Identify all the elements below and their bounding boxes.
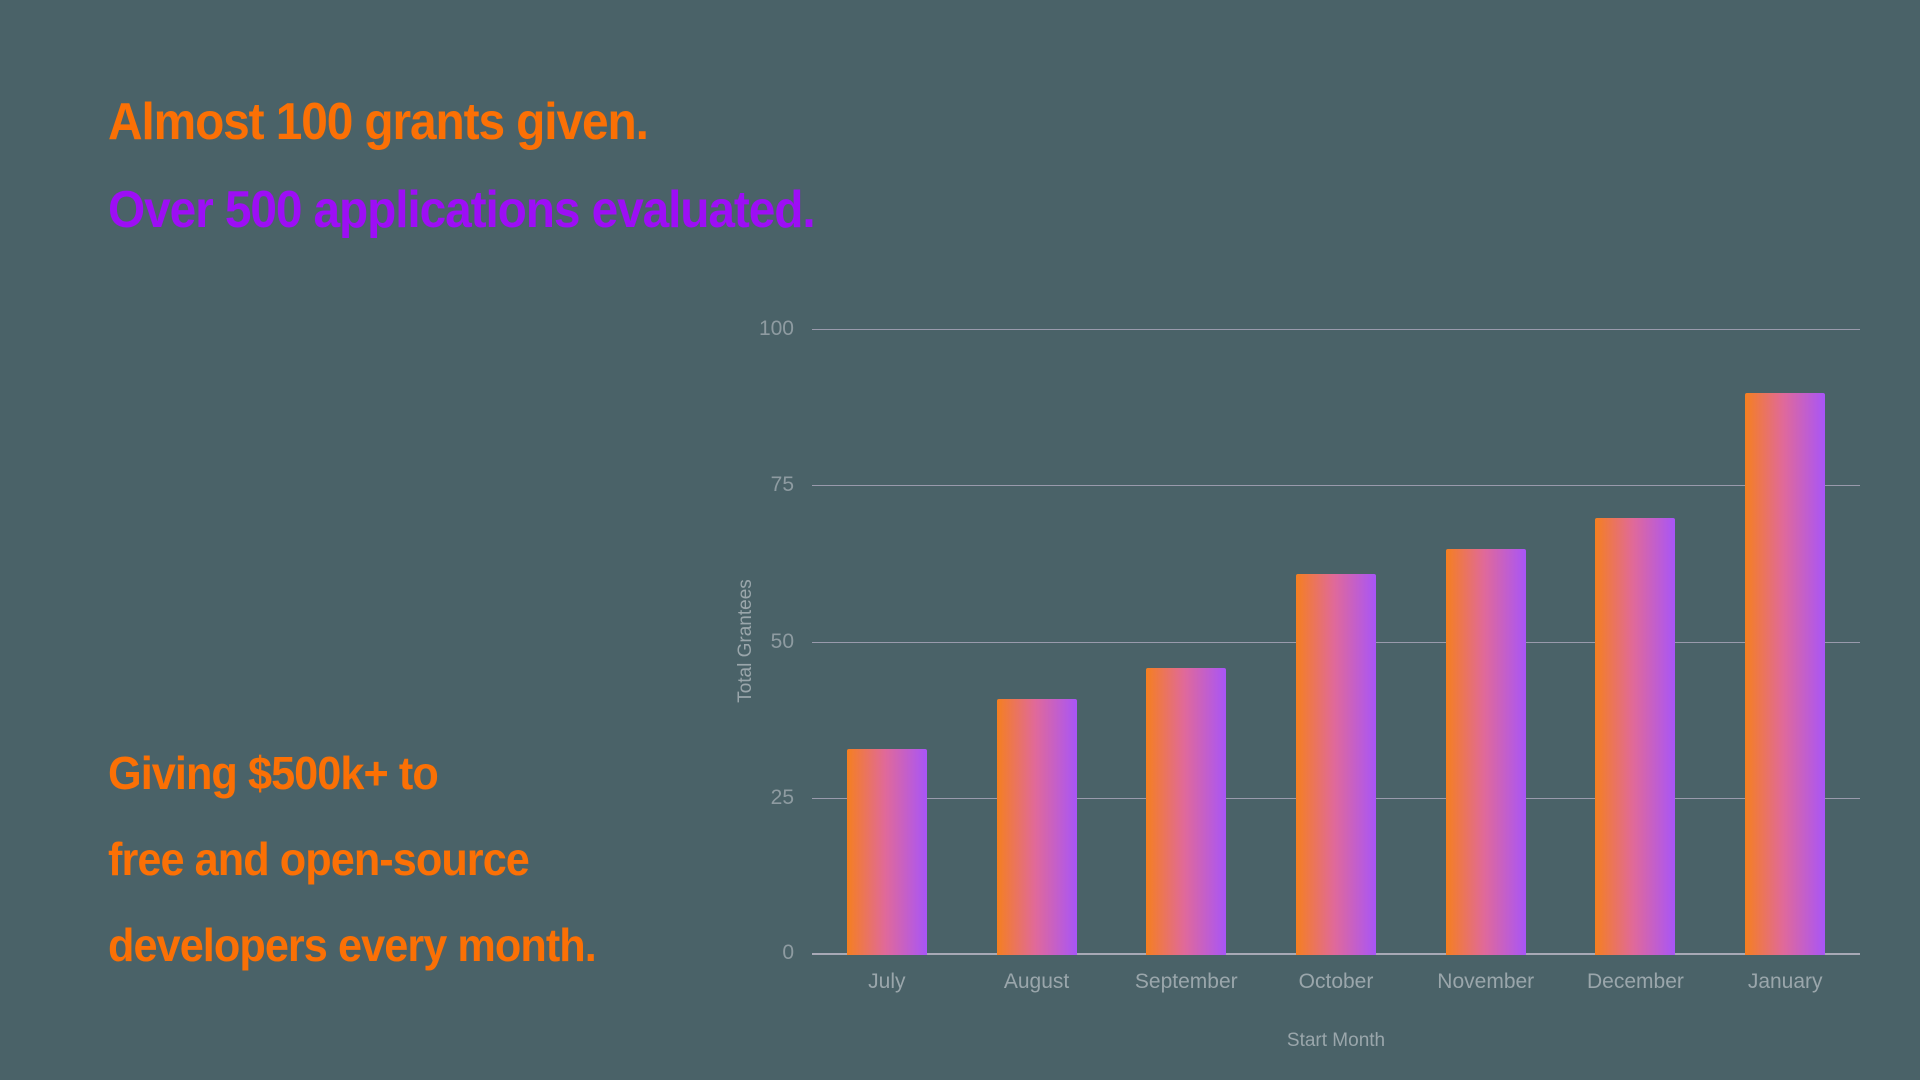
x-axis-tick-label: July: [812, 970, 962, 994]
x-axis-tick-labels: JulyAugustSeptemberOctoberNovemberDecemb…: [812, 970, 1860, 994]
bar-september[interactable]: [1146, 668, 1226, 956]
x-axis-tick-label: August: [962, 970, 1112, 994]
y-axis-tick-label: 25: [771, 786, 794, 810]
x-axis-tick-label: December: [1561, 970, 1711, 994]
headline-line-1: Almost 100 grants given.: [108, 78, 1028, 166]
x-axis-tick-label: November: [1411, 970, 1561, 994]
headline-block: Almost 100 grants given. Over 500 applic…: [108, 78, 1108, 254]
bar-slot: [1261, 330, 1411, 955]
y-axis-title: Total Grantees: [735, 579, 757, 703]
copy-line-1: Giving $500k+ to: [108, 730, 822, 816]
bar-slot: [1710, 330, 1860, 955]
bar-series: [812, 330, 1860, 955]
x-axis-tick-label: January: [1710, 970, 1860, 994]
y-axis-tick-label: 50: [771, 630, 794, 654]
bar-july[interactable]: [847, 749, 927, 955]
bar-slot: [1561, 330, 1711, 955]
plot-area: 0255075100: [812, 330, 1860, 955]
bar-slot: [1411, 330, 1561, 955]
bar-slot: [812, 330, 962, 955]
y-axis-tick-label: 0: [782, 941, 794, 965]
bar-slot: [962, 330, 1112, 955]
x-axis-tick-label: September: [1111, 970, 1261, 994]
supporting-copy-block: Giving $500k+ to free and open-source de…: [108, 730, 868, 988]
y-axis-tick-label: 100: [759, 317, 794, 341]
bar-november[interactable]: [1446, 549, 1526, 955]
bar-august[interactable]: [997, 699, 1077, 955]
copy-line-3: developers every month.: [108, 902, 822, 988]
y-axis-tick-label: 75: [771, 473, 794, 497]
bar-october[interactable]: [1296, 574, 1376, 955]
bar-january[interactable]: [1745, 393, 1825, 956]
bar-december[interactable]: [1595, 518, 1675, 956]
copy-line-2: free and open-source: [108, 816, 822, 902]
x-axis-title: Start Month: [812, 1030, 1860, 1052]
bar-slot: [1111, 330, 1261, 955]
headline-line-2: Over 500 applications evaluated.: [108, 166, 1028, 254]
bar-chart: Total Grantees 0255075100 JulyAugustSept…: [760, 330, 1860, 1030]
x-axis-tick-label: October: [1261, 970, 1411, 994]
